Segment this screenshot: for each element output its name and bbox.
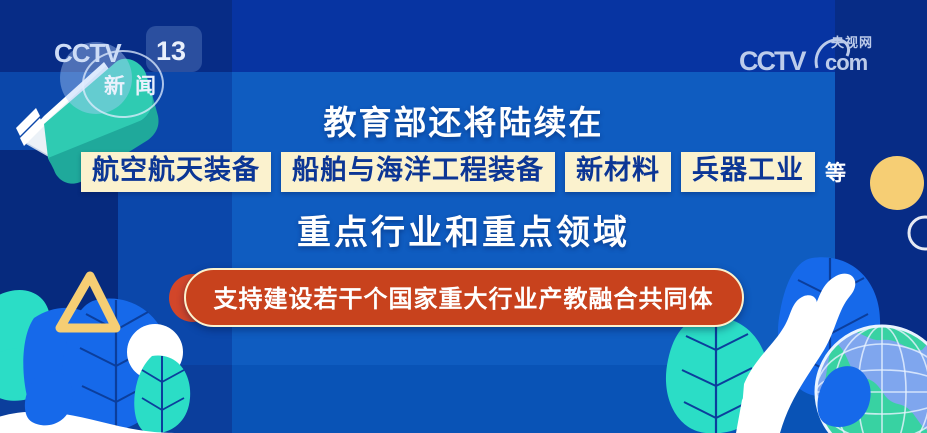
industry-tag: 船舶与海洋工程装备 xyxy=(281,152,555,192)
headline-block: 教育部还将陆续在 航空航天装备 船舶与海洋工程装备 新材料 兵器工业 等 重点行… xyxy=(0,0,927,433)
industry-tag-row: 航空航天装备 船舶与海洋工程装备 新材料 兵器工业 等 xyxy=(0,152,927,192)
headline-line-3: 重点行业和重点领域 xyxy=(0,205,927,254)
broadcast-graphic: CCTV 13 新闻 CCTV 央视网 com 教育部还将陆续在 航空航天装备 … xyxy=(0,0,927,433)
industry-tag-suffix: 等 xyxy=(825,157,846,192)
industry-tag: 兵器工业 xyxy=(681,152,815,192)
callout-wrapper: 支持建设若干个国家重大行业产教融合共同体 xyxy=(0,268,927,327)
industry-tag: 航空航天装备 xyxy=(81,152,271,192)
callout-badge: 支持建设若干个国家重大行业产教融合共同体 xyxy=(184,268,744,327)
industry-tag: 新材料 xyxy=(565,152,671,192)
headline-line-1: 教育部还将陆续在 xyxy=(0,96,927,144)
